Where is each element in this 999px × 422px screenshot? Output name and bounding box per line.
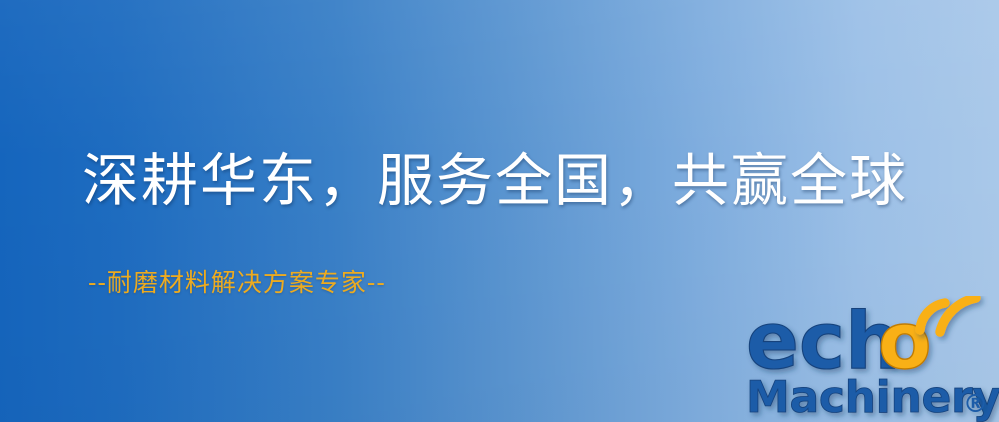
promotional-banner: 深耕华东，服务全国，共赢全球 --耐磨材料解决方案专家-- ech o Mach… [0,0,999,422]
logo-text-machinery: Machinery [746,372,999,422]
banner-subtitle: --耐磨材料解决方案专家-- [88,268,386,298]
registered-trademark-icon: ® [963,389,988,418]
banner-headline: 深耕华东，服务全国，共赢全球 [82,152,908,212]
echo-machinery-logo[interactable]: ech o Machinery ® [744,296,999,422]
